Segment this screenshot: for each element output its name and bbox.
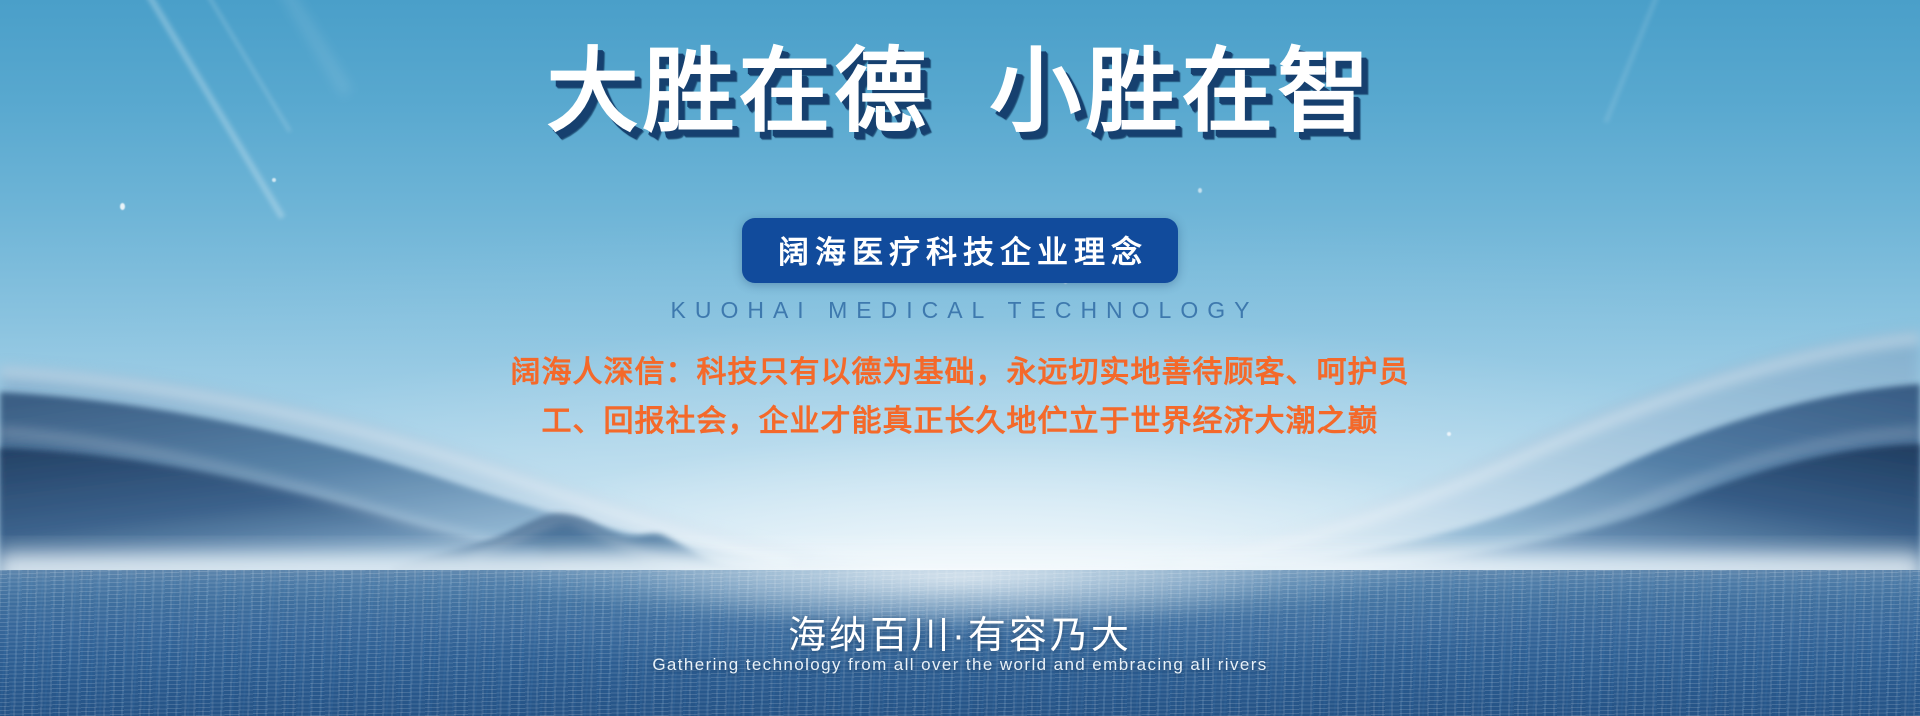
- banner-content: 大胜在德 小胜在智 阔海医疗科技企业理念 KUOHAI MEDICAL TECH…: [0, 0, 1920, 716]
- banner-headline: 大胜在德 小胜在智: [0, 44, 1920, 142]
- philosophy-paragraph-line-1: 阔海人深信：科技只有以德为基础，永远切实地善待顾客、呵护员: [460, 348, 1460, 397]
- company-name-english: KUOHAI MEDICAL TECHNOLOGY: [0, 297, 1920, 324]
- philosophy-badge: 阔海医疗科技企业理念: [742, 218, 1178, 283]
- motto-chinese: 海纳百川·有容乃大: [0, 604, 1920, 659]
- philosophy-paragraph: 阔海人深信：科技只有以德为基础，永远切实地善待顾客、呵护员 工、回报社会，企业才…: [460, 348, 1460, 446]
- philosophy-paragraph-line-2: 工、回报社会，企业才能真正长久地伫立于世界经济大潮之巅: [460, 397, 1460, 446]
- motto-english: Gathering technology from all over the w…: [0, 655, 1920, 675]
- company-philosophy-banner: 大胜在德 小胜在智 阔海医疗科技企业理念 KUOHAI MEDICAL TECH…: [0, 0, 1920, 716]
